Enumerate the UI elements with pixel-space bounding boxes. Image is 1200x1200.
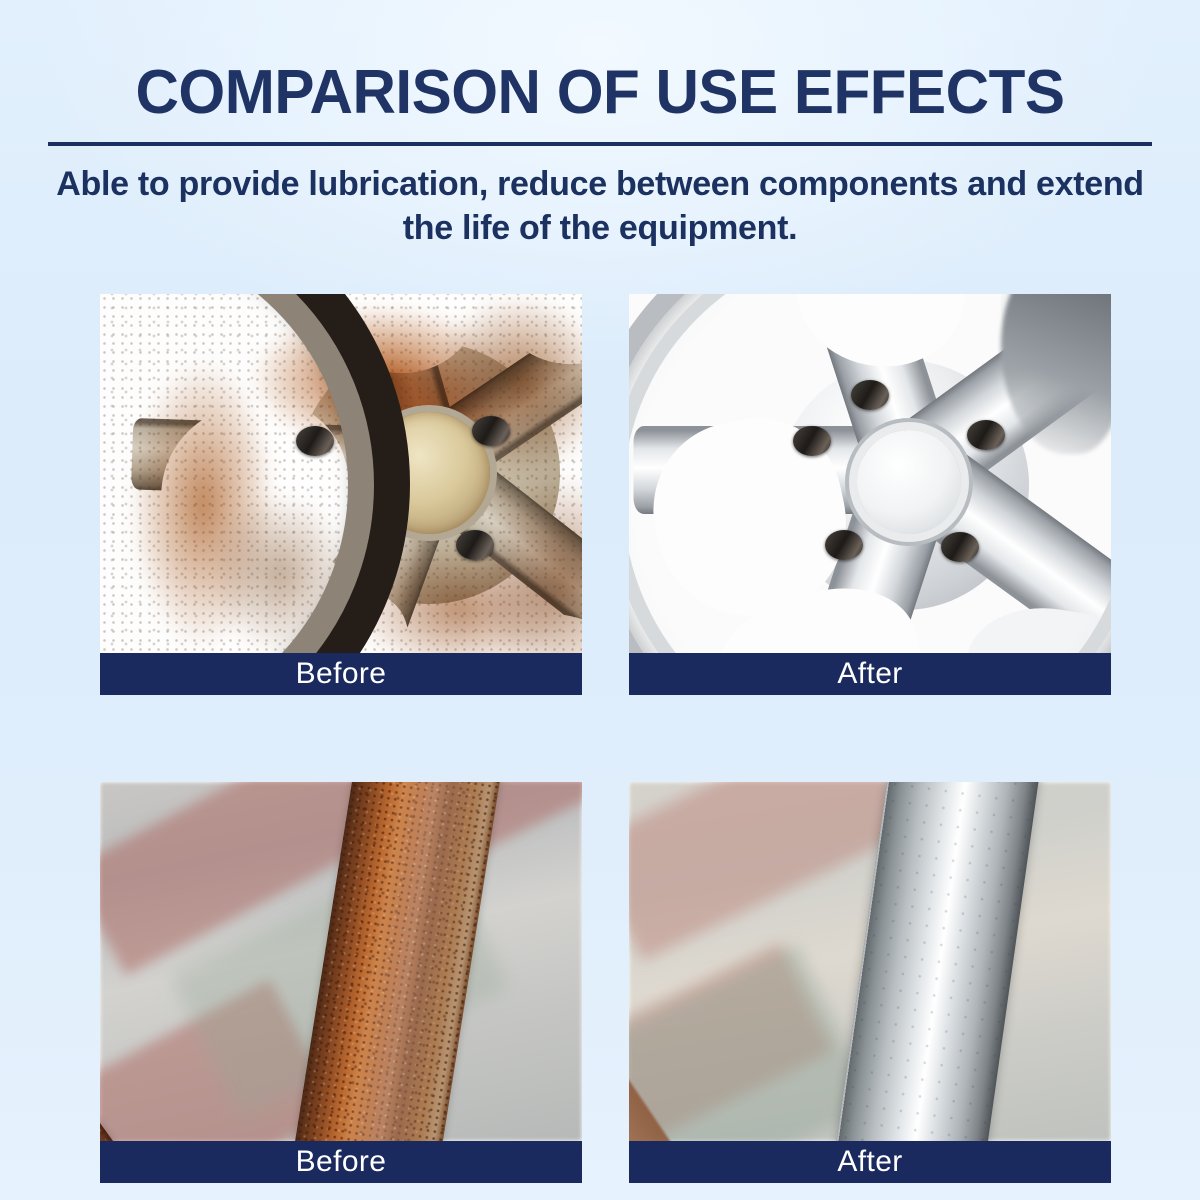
photo-clean-wheel-image [629,294,1111,653]
header: COMPARISON OF USE EFFECTS Able to provid… [0,0,1200,250]
label-text-after: After [837,659,902,689]
label-bar-after-pipe: After [629,1141,1111,1183]
comparison-cell-after-wheel: After [629,294,1111,695]
comparison-cell-before-pipe: Before [100,782,582,1183]
comparison-row-1: Before [100,294,1110,695]
comparison-cell-before-wheel: Before [100,294,582,695]
rusty-wheel-illustration [100,294,582,653]
photo-rusty-pipe-image [100,782,582,1141]
label-bar-before-pipe: Before [100,1141,582,1183]
photo-rusty-wheel-image [100,294,582,653]
page-subtitle: Able to provide lubrication, reduce betw… [45,162,1155,250]
title-divider [48,142,1152,146]
rusty-pipe-illustration [100,782,582,1141]
label-bar-before-wheel: Before [100,653,582,695]
comparison-grid: Before [100,294,1110,1183]
label-text-before: Before [296,659,387,689]
clean-pipe-illustration [629,782,1111,1141]
comparison-row-2: Before After [100,782,1110,1183]
page-title: COMPARISON OF USE EFFECTS [18,62,1182,124]
comparison-cell-after-pipe: After [629,782,1111,1183]
photo-clean-pipe-image [629,782,1111,1141]
label-text-before: Before [296,1147,387,1177]
label-text-after: After [837,1147,902,1177]
clean-wheel-illustration [629,294,1111,653]
label-bar-after-wheel: After [629,653,1111,695]
